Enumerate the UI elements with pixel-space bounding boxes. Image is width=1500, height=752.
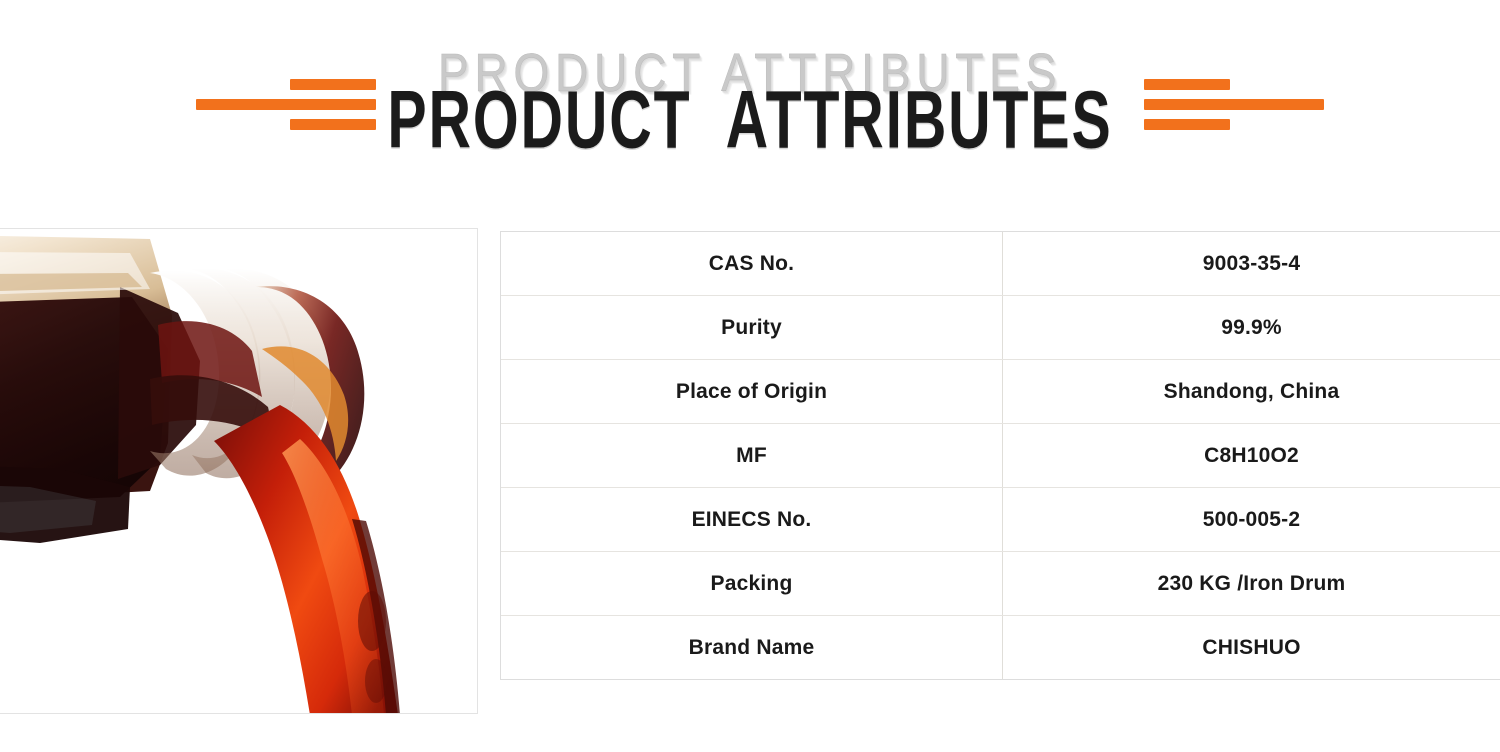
page-header: PRODUCT ATTRIBUTES PRODUCT ATTRIBUTES [0, 0, 1500, 200]
attribute-value: 9003-35-4 [1003, 232, 1500, 295]
attribute-label: Brand Name [501, 616, 1003, 679]
attribute-value: 230 KG /Iron Drum [1003, 552, 1500, 615]
orange-bar-bottom-left [290, 119, 376, 130]
attribute-value: CHISHUO [1003, 616, 1500, 679]
product-photo [0, 229, 477, 713]
title-decoration-right [1144, 78, 1324, 132]
bottle-pouring-illustration [0, 229, 478, 714]
orange-bar-top-right [1144, 79, 1230, 90]
attribute-label: CAS No. [501, 232, 1003, 295]
attribute-value: C8H10O2 [1003, 424, 1500, 487]
stream-bubble-1 [358, 591, 386, 651]
attribute-label: EINECS No. [501, 488, 1003, 551]
title-decoration-left [196, 78, 376, 132]
orange-bar-middle-right [1144, 99, 1324, 110]
attribute-label: Place of Origin [501, 360, 1003, 423]
stream-bubble-2 [365, 659, 387, 703]
table-row: Place of Origin Shandong, China [501, 360, 1500, 424]
attributes-table: CAS No. 9003-35-4 Purity 99.9% Place of … [500, 231, 1500, 680]
attribute-label: MF [501, 424, 1003, 487]
table-row: Purity 99.9% [501, 296, 1500, 360]
orange-bar-bottom-right [1144, 119, 1230, 130]
attribute-label: Packing [501, 552, 1003, 615]
table-row: CAS No. 9003-35-4 [501, 232, 1500, 296]
table-row: Packing 230 KG /Iron Drum [501, 552, 1500, 616]
product-image-panel [0, 228, 478, 714]
orange-bar-middle-left [196, 99, 376, 110]
attribute-value: 99.9% [1003, 296, 1500, 359]
table-row: Brand Name CHISHUO [501, 616, 1500, 679]
table-row: MF C8H10O2 [501, 424, 1500, 488]
orange-bar-top-left [290, 79, 376, 90]
attribute-value: Shandong, China [1003, 360, 1500, 423]
table-row: EINECS No. 500-005-2 [501, 488, 1500, 552]
attribute-value: 500-005-2 [1003, 488, 1500, 551]
attribute-label: Purity [501, 296, 1003, 359]
